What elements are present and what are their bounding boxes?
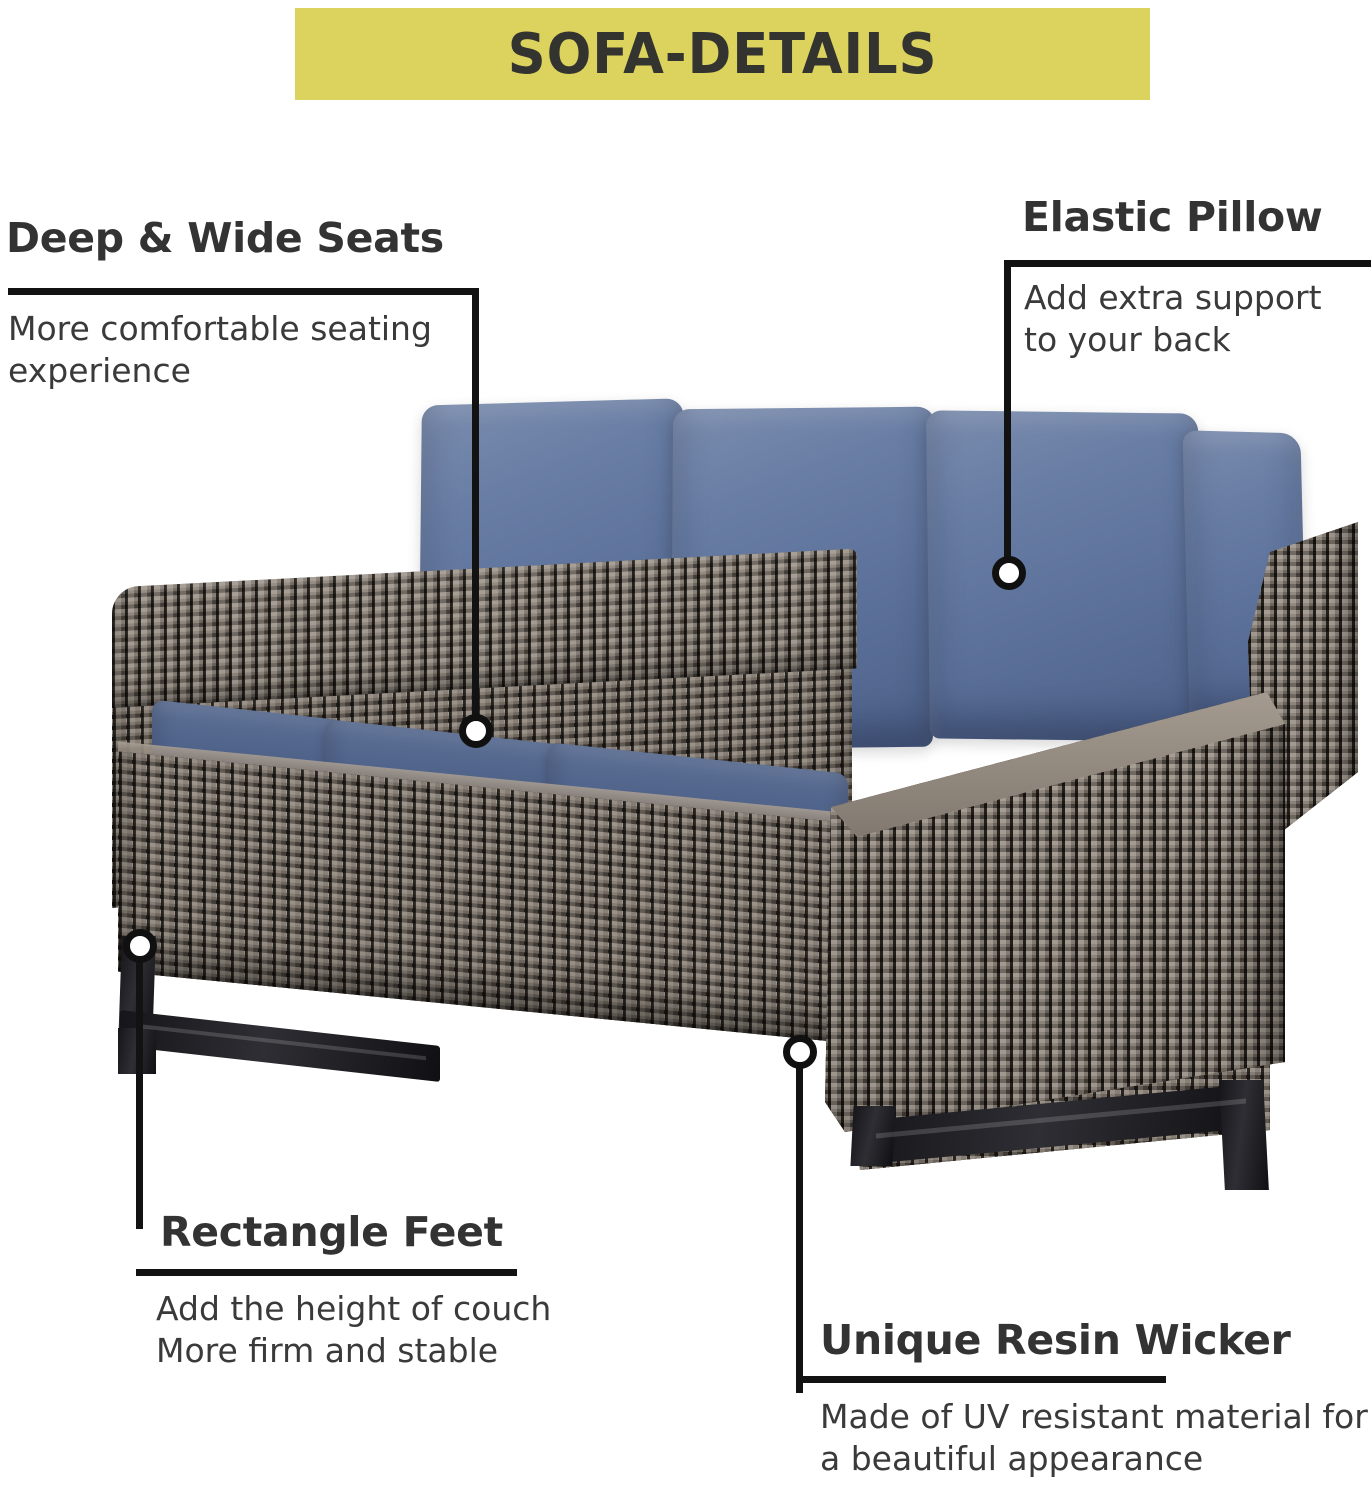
callout-title-deep-wide-seats: Deep & Wide Seats [6,214,444,262]
infographic-canvas: SOFA-DETAILS D [0,0,1371,1488]
callout-title-rectangle-feet: Rectangle Feet [160,1208,503,1256]
callout-marker-unique-resin-wicker [783,1035,817,1069]
callout-marker-elastic-pillow [992,556,1026,590]
leg-left-rail [120,1010,440,1082]
callout-marker-deep-wide-seats [459,714,493,748]
sofa-illustration [0,380,1371,1210]
back-cushion-right [926,410,1202,741]
header-banner: SOFA-DETAILS [295,8,1150,100]
callout-leader-line-horizontal-2 [1004,260,1371,267]
callout-leader-line-vertical-3 [136,944,143,1229]
leg-right-vertical [1219,1080,1269,1190]
callout-leader-line-horizontal-3 [136,1269,517,1276]
callout-body-unique-resin-wicker: Made of UV resistant material for a beau… [820,1396,1370,1480]
callout-leader-line-vertical-4 [796,1052,803,1393]
callout-leader-line-horizontal-4 [796,1376,1166,1383]
callout-title-unique-resin-wicker: Unique Resin Wicker [820,1316,1291,1364]
callout-leader-line-horizontal-1 [8,288,479,295]
callout-title-elastic-pillow: Elastic Pillow [1022,193,1322,241]
callout-body-rectangle-feet: Add the height of couch More firm and st… [156,1288,606,1372]
callout-marker-rectangle-feet [123,929,157,963]
callout-leader-line-vertical-2 [1004,260,1011,578]
callout-body-elastic-pillow: Add extra support to your back [1024,277,1354,361]
page-title: SOFA-DETAILS [508,22,938,87]
callout-body-deep-wide-seats: More comfortable seating experience [8,308,478,392]
